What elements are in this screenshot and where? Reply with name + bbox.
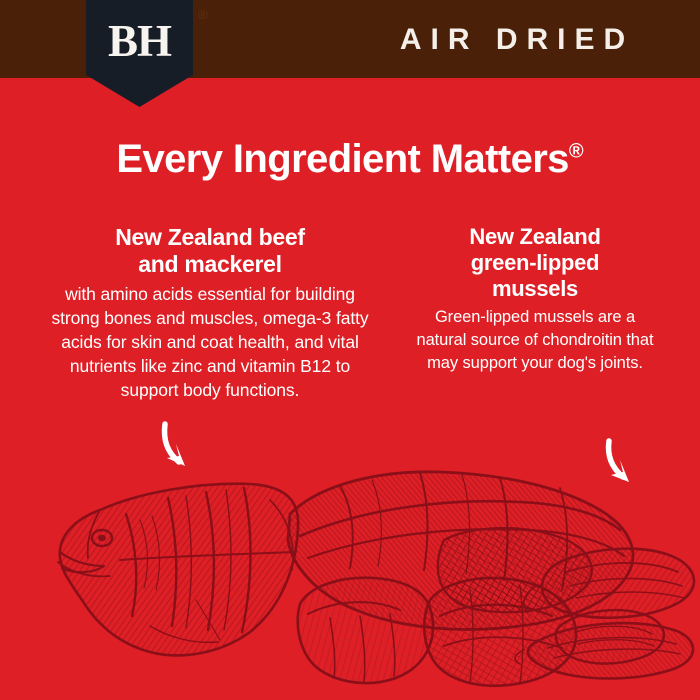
arrow-down-left-icon — [145, 418, 215, 484]
headline-registered-icon: ® — [569, 141, 584, 163]
registered-trademark-icon: ® — [198, 8, 208, 21]
ingredient-title: New Zealand green-lipped mussels — [413, 224, 657, 302]
page-title: Every Ingredient Matters® — [0, 136, 700, 182]
product-line-label: AIR DRIED — [372, 24, 662, 56]
brand-badge: BH — [86, 0, 193, 107]
ingredient-columns: New Zealand beef and mackerel with amino… — [0, 224, 700, 402]
page-title-text: Every Ingredient Matters — [116, 137, 568, 181]
arrow-down-right-icon — [595, 435, 661, 501]
ingredient-description: Green-lipped mussels are a natural sourc… — [413, 306, 657, 375]
product-panel: ® AIR DRIED BH Every Ingredient Matters®… — [0, 0, 700, 700]
ingredient-description: with amino acids essential for building … — [41, 282, 379, 402]
brand-badge-label: BH — [86, 19, 193, 64]
ingredient-title: New Zealand beef and mackerel — [41, 224, 379, 278]
ingredient-column-beef-mackerel: New Zealand beef and mackerel with amino… — [25, 224, 395, 402]
ingredient-column-mussels: New Zealand green-lipped mussels Green-l… — [395, 224, 675, 375]
